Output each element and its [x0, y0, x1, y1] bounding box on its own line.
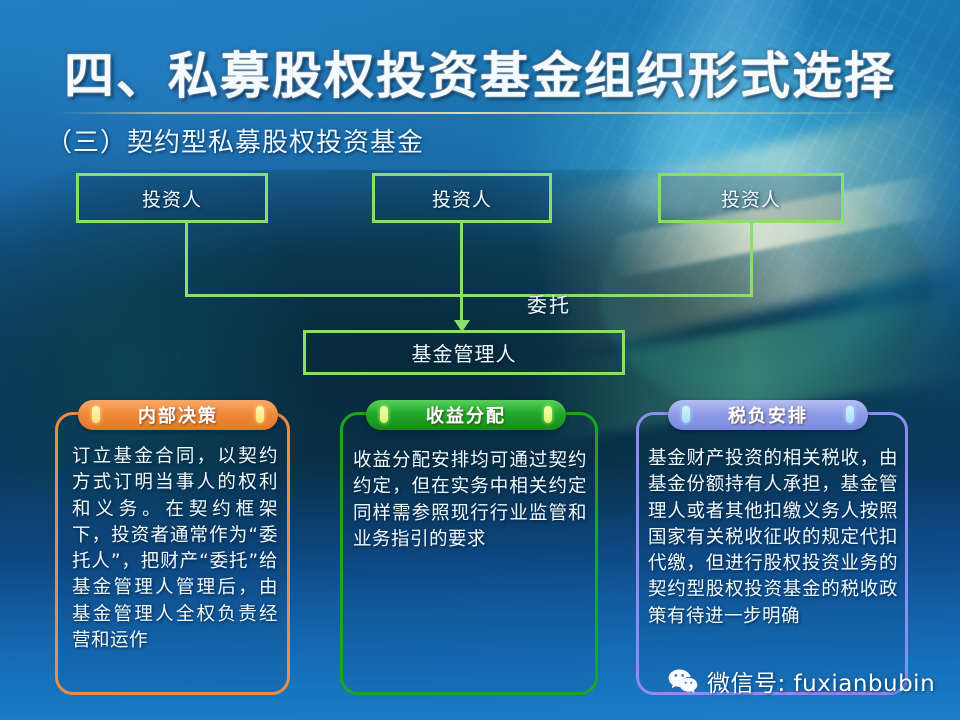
badge-pip-right-icon [846, 406, 854, 423]
card-body-internal-decision: 订立基金合同，以契约方式订明当事人的权利和义务。在契约框架下，投资者通常作为“委… [72, 444, 278, 654]
page-subtitle: （三）契约型私募股权投资基金 [46, 122, 424, 159]
org-node-investor-2: 投资人 [372, 173, 552, 223]
slide-canvas: 四、私募股权投资基金组织形式选择 （三）契约型私募股权投资基金 投资人 投资人 … [0, 0, 960, 720]
badge-pip-left-icon [682, 406, 690, 423]
title-container: 四、私募股权投资基金组织形式选择 [0, 36, 960, 108]
title-divider [58, 112, 906, 114]
org-node-label: 基金管理人 [412, 338, 517, 367]
connector-investor-2 [460, 223, 463, 296]
badge-pip-right-icon [256, 406, 264, 423]
badge-pip-left-icon [92, 406, 100, 423]
card-body-tax-arrangement: 基金财产投资的相关税收，由基金份额持有人承担，基金管理人或者其他扣缴义务人按照国… [648, 446, 898, 630]
watermark-text: 微信号: fuxianbubin [707, 664, 935, 698]
watermark: 微信号: fuxianbubin [668, 664, 935, 698]
org-node-label: 投资人 [721, 185, 781, 212]
wechat-icon [668, 668, 698, 694]
connector-label-entrust: 委托 [527, 289, 571, 318]
card-badge-tax-arrangement: 税负安排 [668, 400, 868, 430]
org-node-fund-manager: 基金管理人 [303, 330, 625, 375]
card-badge-internal-decision: 内部决策 [78, 400, 278, 430]
org-node-investor-1: 投资人 [76, 173, 268, 223]
card-body-income-distribution: 收益分配安排均可通过契约约定，但在实务中相关约定同样需参照现行行业监管和业务指引… [353, 448, 587, 553]
org-node-label: 投资人 [142, 185, 202, 212]
connector-investor-3 [750, 223, 753, 296]
card-badge-label: 内部决策 [138, 402, 218, 428]
org-node-label: 投资人 [432, 185, 492, 212]
card-badge-label: 税负安排 [728, 402, 808, 428]
connector-investor-1 [185, 223, 188, 296]
badge-pip-left-icon [380, 406, 388, 423]
card-badge-income-distribution: 收益分配 [366, 400, 566, 430]
connector-horizontal-bus [185, 294, 753, 297]
card-badge-label: 收益分配 [426, 402, 506, 428]
badge-pip-right-icon [544, 406, 552, 423]
org-node-investor-3: 投资人 [658, 173, 844, 223]
page-title: 四、私募股权投资基金组织形式选择 [0, 36, 960, 108]
